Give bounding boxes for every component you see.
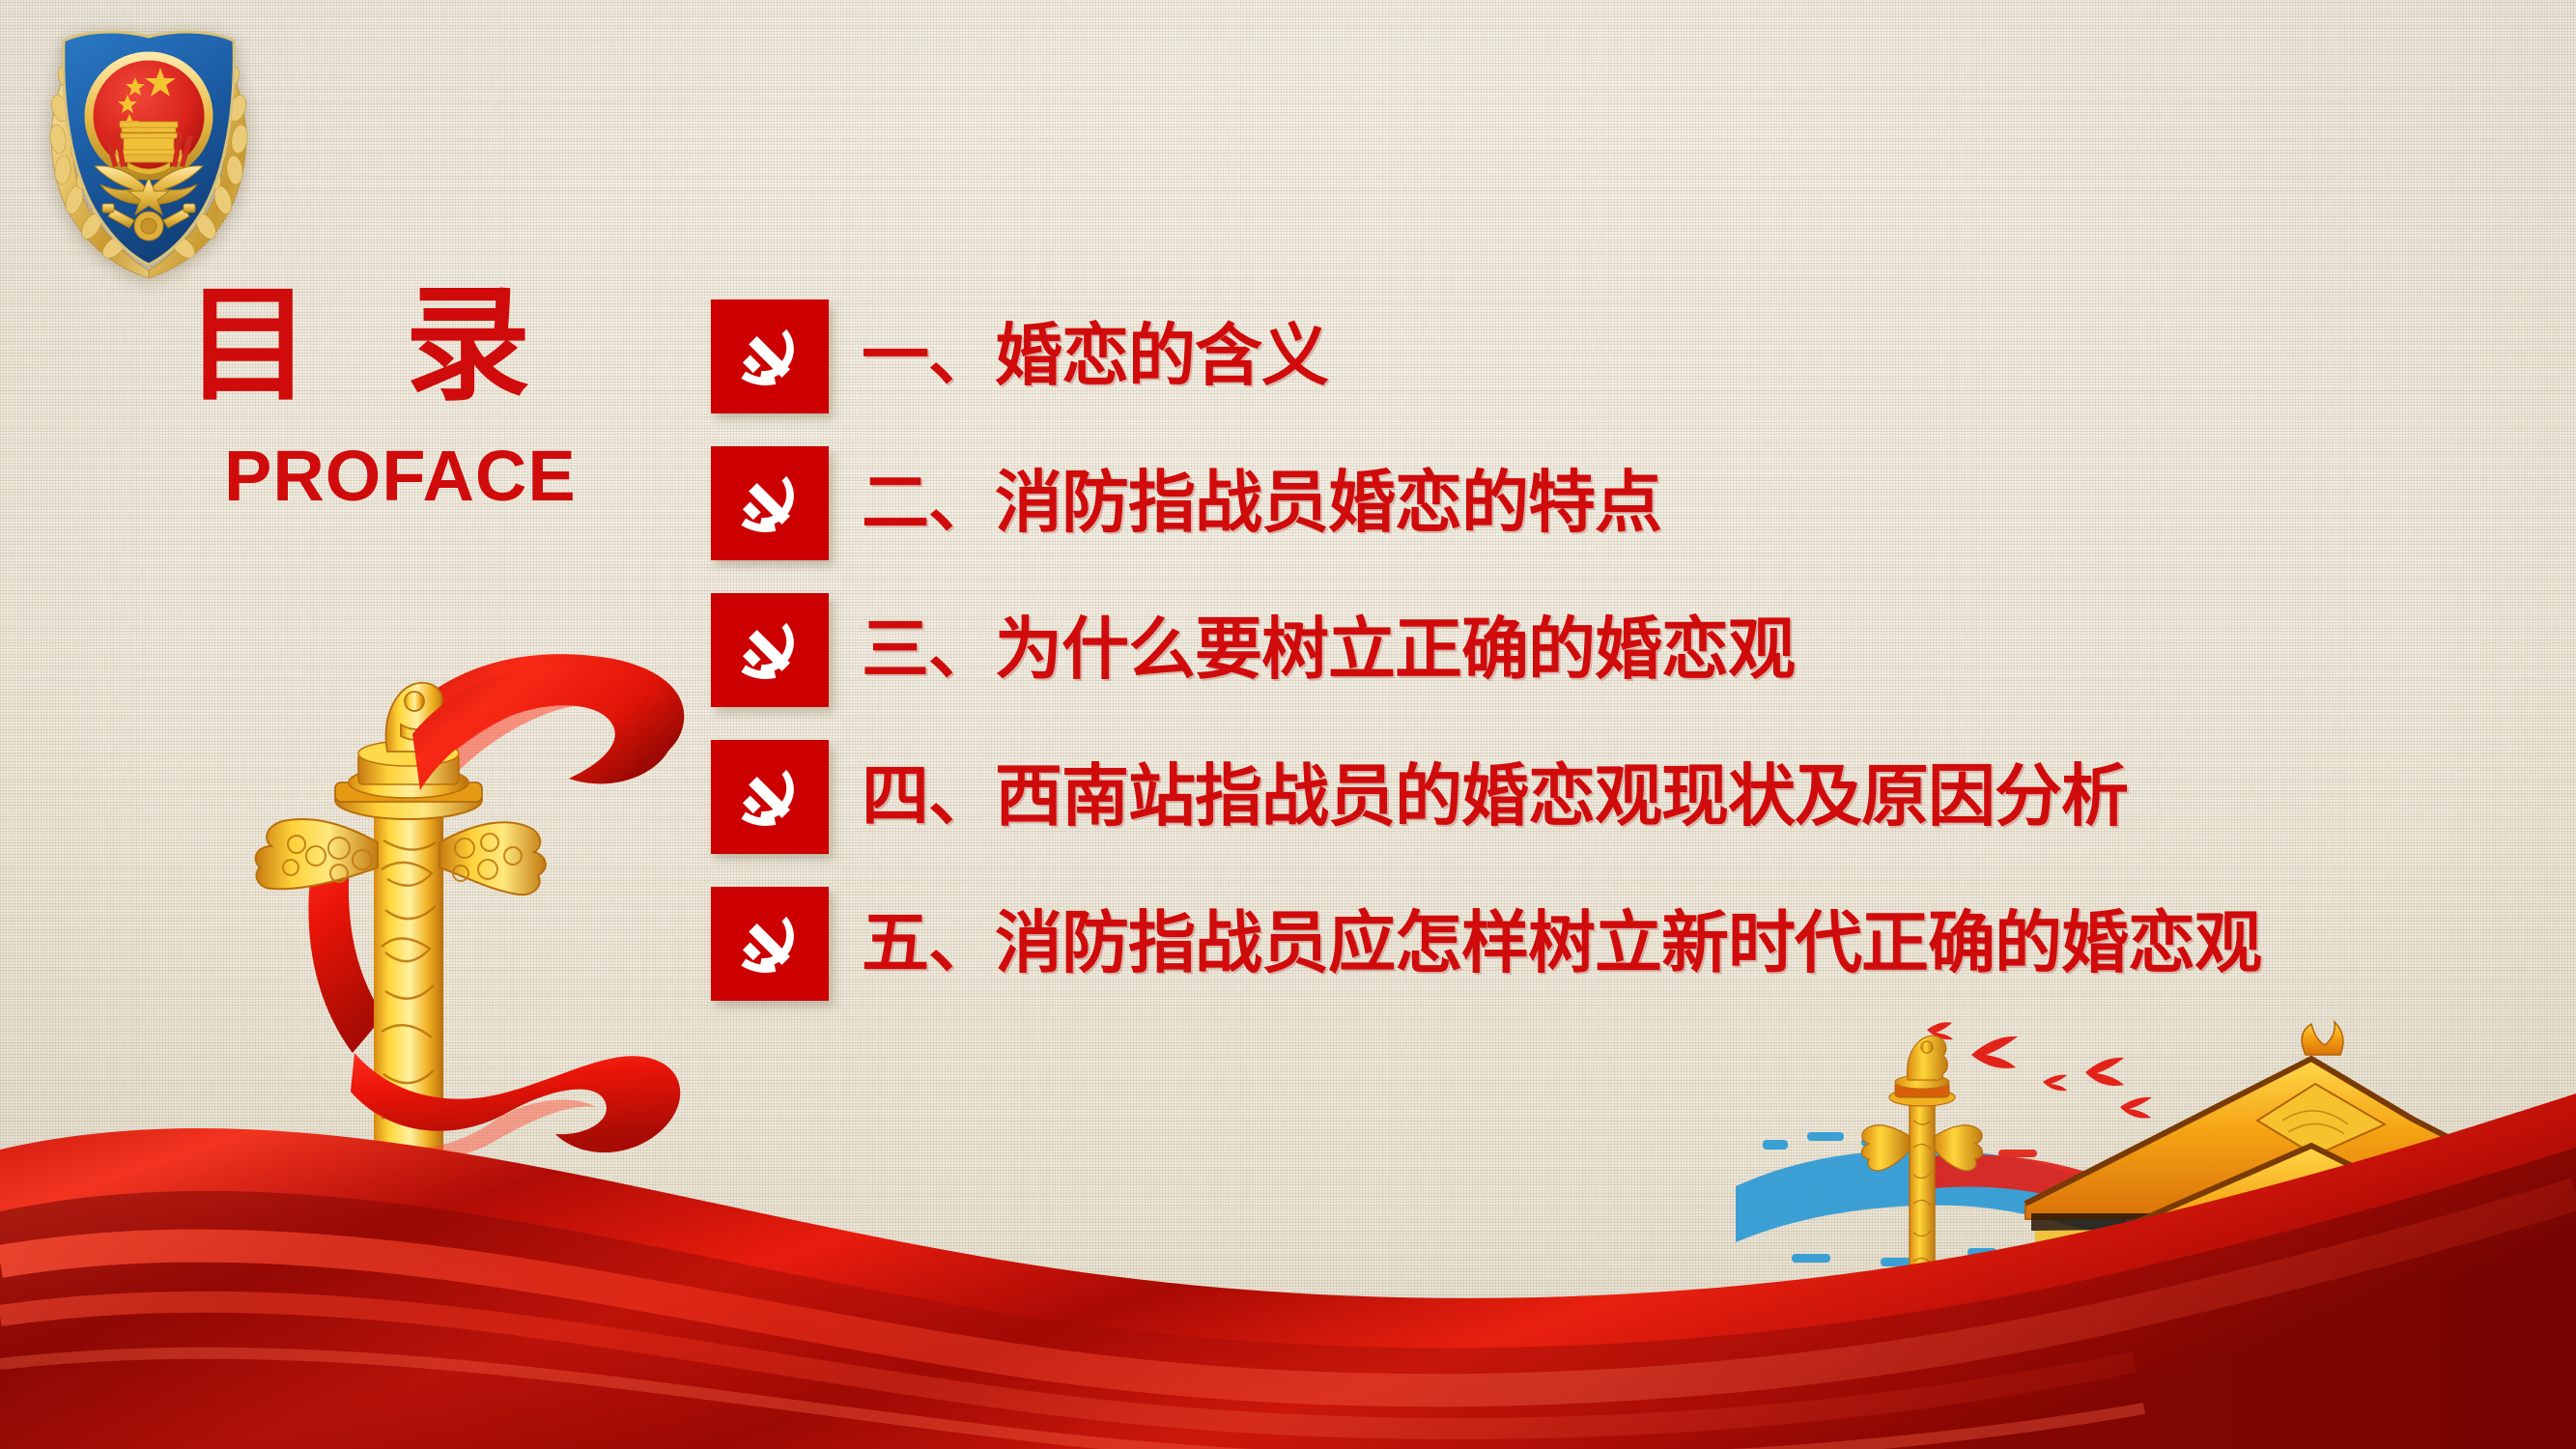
tiananmen-gate-illustration: 中华人民共和国万岁 世界人民大团结万岁	[1736, 966, 2576, 1449]
banner-right: 世界人民大团结万岁	[2128, 1404, 2277, 1442]
portrait-frame	[2095, 1420, 2124, 1449]
toc-item-label: 五、消防指战员应怎样树立新时代正确的婚恋观	[862, 908, 2261, 980]
china-fire-rescue-emblem	[35, 8, 263, 288]
cpc-hammer-sickle-icon	[711, 299, 829, 413]
toc-item-1[interactable]: 一、婚恋的含义	[711, 299, 2261, 413]
cpc-hammer-sickle-icon	[711, 887, 829, 1001]
svg-text:世界人民大团结万岁: 世界人民大团结万岁	[2128, 1408, 2277, 1439]
blue-brush-stroke	[1736, 1132, 2126, 1266]
red-brush-stroke	[1910, 1146, 2089, 1206]
toc-item-5[interactable]: 五、消防指战员应怎样树立新时代正确的婚恋观	[711, 887, 2261, 1001]
huabiao-column-right	[1862, 1036, 1983, 1312]
toc-item-2[interactable]: 二、消防指战员婚恋的特点	[711, 446, 2261, 560]
red-lanterns	[2048, 1321, 2401, 1370]
cpc-hammer-sickle-icon	[711, 740, 829, 854]
toc-item-label: 四、西南站指战员的婚恋观现状及原因分析	[862, 761, 2128, 833]
page-title-en: PROFACE	[224, 440, 715, 512]
page-title-cn: 目 录	[174, 282, 715, 408]
toc-item-4[interactable]: 四、西南站指战员的婚恋观现状及原因分析	[711, 740, 2261, 854]
banner-left: 中华人民共和国万岁	[1988, 1421, 2102, 1449]
toc-item-label: 二、消防指战员婚恋的特点	[862, 468, 1661, 539]
svg-text:中华人民共和国万岁: 中华人民共和国万岁	[1988, 1426, 2102, 1449]
toc-item-label: 三、为什么要树立正确的婚恋观	[862, 614, 1795, 686]
toc-item-label: 一、婚恋的含义	[862, 321, 1328, 392]
title-block: 目 录 PROFACE	[174, 282, 715, 512]
table-of-contents: 一、婚恋的含义 二、消防指战员婚恋的特点	[711, 299, 2261, 1001]
cpc-hammer-sickle-icon	[711, 446, 829, 560]
cpc-hammer-sickle-icon	[711, 593, 829, 707]
huabiao-column-decoration	[208, 638, 700, 1314]
slide-canvas: 目 录 PROFACE 一、婚恋的含义	[0, 0, 2576, 1449]
red-flying-birds-icon	[1927, 1022, 2152, 1118]
toc-item-3[interactable]: 三、为什么要树立正确的婚恋观	[711, 593, 2261, 707]
